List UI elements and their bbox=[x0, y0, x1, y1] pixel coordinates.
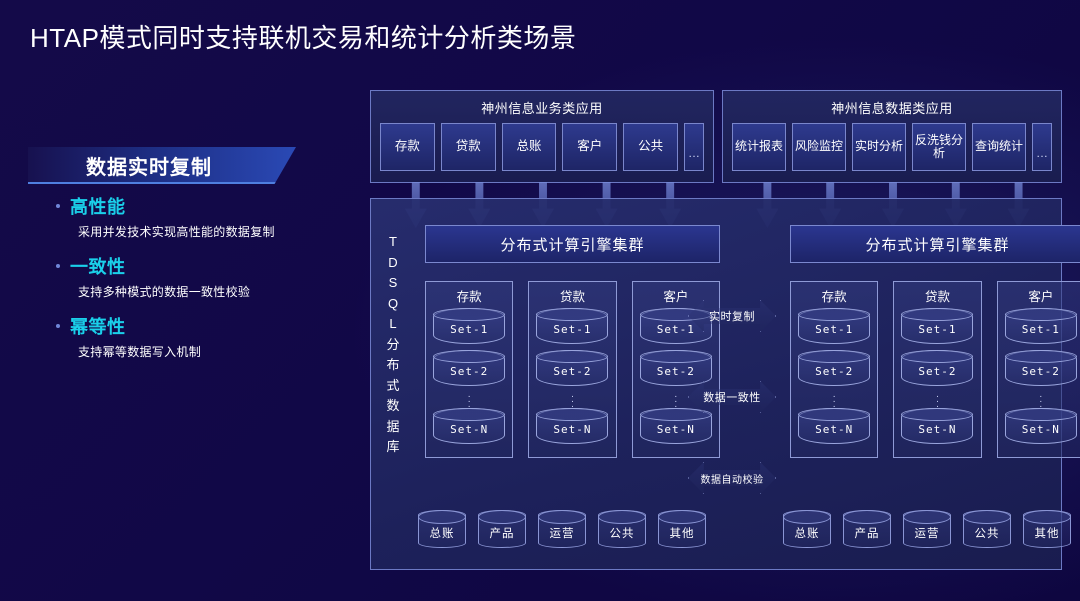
vlabel-char: 数 bbox=[380, 396, 406, 417]
set-label: Set-2 bbox=[799, 365, 869, 378]
database-icon: 公共 bbox=[963, 510, 1011, 548]
app-item[interactable]: 查询统计 bbox=[972, 123, 1026, 171]
app-item-more[interactable]: … bbox=[1032, 123, 1052, 171]
bullet-title: 高性能 bbox=[70, 193, 126, 219]
set-label: Set-1 bbox=[902, 323, 972, 336]
database-icon: 其他 bbox=[1023, 510, 1071, 548]
database-label: 总账 bbox=[419, 525, 465, 541]
database-label: 产品 bbox=[479, 525, 525, 541]
database-icon: 产品 bbox=[478, 510, 526, 548]
app-item-list: 存款 贷款 总账 客户 公共 … bbox=[371, 117, 713, 171]
database-set-icon: Set-2 bbox=[1005, 350, 1077, 386]
shard-title: 贷款 bbox=[900, 286, 974, 305]
app-item[interactable]: 存款 bbox=[380, 123, 435, 171]
app-group-data: 神州信息数据类应用 统计报表 风险监控 实时分析 反洗钱分析 查询统计 … bbox=[722, 90, 1062, 183]
database-label: 运营 bbox=[904, 525, 950, 541]
set-label: Set-2 bbox=[1006, 365, 1076, 378]
database-label: 产品 bbox=[844, 525, 890, 541]
bullet-description: 支持幂等数据写入机制 bbox=[78, 343, 352, 360]
database-label: 运营 bbox=[539, 525, 585, 541]
bullet-title: 一致性 bbox=[70, 253, 126, 279]
database-icon: 产品 bbox=[843, 510, 891, 548]
vlabel-char: 布 bbox=[380, 355, 406, 376]
shard: 客户 Set-1 Set-2 ··· Set-N bbox=[997, 281, 1080, 458]
shard: 贷款 Set-1 Set-2 ··· Set-N bbox=[893, 281, 981, 458]
database-label: 其他 bbox=[1024, 525, 1070, 541]
database-icon: 运营 bbox=[538, 510, 586, 548]
database-set-icon: Set-1 bbox=[1005, 308, 1077, 344]
app-group-title: 神州信息数据类应用 bbox=[723, 91, 1061, 117]
app-item[interactable]: 公共 bbox=[623, 123, 678, 171]
database-icon: 其他 bbox=[658, 510, 706, 548]
database-icon: 运营 bbox=[903, 510, 951, 548]
cluster-header: 分布式计算引擎集群 bbox=[425, 225, 720, 263]
set-label: Set-2 bbox=[902, 365, 972, 378]
page-title: HTAP模式同时支持联机交易和统计分析类场景 bbox=[30, 18, 576, 55]
vertical-dots-icon: ··· bbox=[900, 392, 974, 408]
shard-row: 存款 Set-1 Set-2 ··· Set-N 贷款 Set-1 Set-2 … bbox=[425, 281, 720, 458]
cluster-right: 分布式计算引擎集群 存款 Set-1 Set-2 ··· Set-N 贷款 Se… bbox=[790, 225, 1080, 458]
vertical-dots-icon: ··· bbox=[432, 392, 506, 408]
shard-row: 存款 Set-1 Set-2 ··· Set-N 贷款 Set-1 Set-2 … bbox=[790, 281, 1080, 458]
vlabel-char: 据 bbox=[380, 417, 406, 438]
set-label: Set-N bbox=[537, 423, 607, 436]
slide-canvas: HTAP模式同时支持联机交易和统计分析类场景 数据实时复制 高性能 采用并发技术… bbox=[0, 0, 1080, 601]
bullet-description: 支持多种模式的数据一致性校验 bbox=[78, 283, 352, 300]
database-set-icon: Set-1 bbox=[433, 308, 505, 344]
database-icon: 总账 bbox=[418, 510, 466, 548]
database-set-icon: Set-N bbox=[1005, 408, 1077, 444]
vertical-dots-icon: ··· bbox=[535, 392, 609, 408]
shard: 存款 Set-1 Set-2 ··· Set-N bbox=[790, 281, 878, 458]
bullet-dot-icon bbox=[56, 264, 60, 268]
app-item-more[interactable]: … bbox=[684, 123, 704, 171]
database-set-icon: Set-2 bbox=[798, 350, 870, 386]
database-icon: 公共 bbox=[598, 510, 646, 548]
set-label: Set-2 bbox=[641, 365, 711, 378]
app-item-list: 统计报表 风险监控 实时分析 反洗钱分析 查询统计 … bbox=[723, 117, 1061, 171]
vertical-dots-icon: ··· bbox=[797, 392, 871, 408]
set-label: Set-2 bbox=[537, 365, 607, 378]
banner-label: 数据实时复制 bbox=[28, 147, 296, 184]
shard-title: 存款 bbox=[432, 286, 506, 305]
database-set-icon: Set-N bbox=[536, 408, 608, 444]
bidirectional-arrow: 实时复制 bbox=[688, 300, 776, 332]
database-set-icon: Set-2 bbox=[536, 350, 608, 386]
bullet-title: 幂等性 bbox=[70, 313, 126, 339]
bullet-dot-icon bbox=[56, 204, 60, 208]
app-item[interactable]: 反洗钱分析 bbox=[912, 123, 966, 171]
database-set-icon: Set-N bbox=[433, 408, 505, 444]
set-label: Set-N bbox=[641, 423, 711, 436]
set-label: Set-1 bbox=[1006, 323, 1076, 336]
app-item[interactable]: 风险监控 bbox=[792, 123, 846, 171]
app-item[interactable]: 实时分析 bbox=[852, 123, 906, 171]
vlabel-char: S bbox=[380, 273, 406, 294]
bullet-head: 一致性 bbox=[52, 252, 352, 280]
database-label: 总账 bbox=[784, 525, 830, 541]
bullet-description: 采用并发技术实现高性能的数据复制 bbox=[78, 223, 352, 240]
bidirectional-arrow: 数据一致性 bbox=[688, 381, 776, 413]
set-label: Set-2 bbox=[434, 365, 504, 378]
database-set-icon: Set-2 bbox=[901, 350, 973, 386]
bidirectional-arrow-label: 数据自动校验 bbox=[688, 462, 776, 494]
vlabel-char: Q bbox=[380, 294, 406, 315]
app-item[interactable]: 客户 bbox=[562, 123, 617, 171]
cluster-header: 分布式计算引擎集群 bbox=[790, 225, 1080, 263]
vertical-dots-icon: ··· bbox=[1004, 392, 1078, 408]
database-set-icon: Set-N bbox=[798, 408, 870, 444]
list-item: 幂等性 支持幂等数据写入机制 bbox=[52, 312, 352, 360]
app-group-title: 神州信息业务类应用 bbox=[371, 91, 713, 117]
database-set-icon: Set-N bbox=[640, 408, 712, 444]
set-label: Set-1 bbox=[537, 323, 607, 336]
section-banner: 数据实时复制 bbox=[28, 147, 296, 184]
shard-title: 贷款 bbox=[535, 286, 609, 305]
feature-bullet-list: 高性能 采用并发技术实现高性能的数据复制 一致性 支持多种模式的数据一致性校验 … bbox=[52, 192, 352, 372]
list-item: 高性能 采用并发技术实现高性能的数据复制 bbox=[52, 192, 352, 240]
database-set-icon: Set-2 bbox=[433, 350, 505, 386]
app-item[interactable]: 统计报表 bbox=[732, 123, 786, 171]
bullet-head: 高性能 bbox=[52, 192, 352, 220]
bidirectional-arrow-label: 数据一致性 bbox=[688, 381, 776, 413]
cluster-left: 分布式计算引擎集群 存款 Set-1 Set-2 ··· Set-N 贷款 Se… bbox=[425, 225, 720, 458]
vlabel-char: D bbox=[380, 253, 406, 274]
database-icon: 总账 bbox=[783, 510, 831, 548]
bottom-db-row-left: 总账 产品 运营 公共 其他 bbox=[418, 510, 718, 548]
vlabel-char: 分 bbox=[380, 335, 406, 356]
database-label: 公共 bbox=[964, 525, 1010, 541]
shard-title: 客户 bbox=[1004, 286, 1078, 305]
bidirectional-arrow: 数据自动校验 bbox=[688, 462, 776, 494]
bullet-dot-icon bbox=[56, 324, 60, 328]
app-item[interactable]: 总账 bbox=[502, 123, 557, 171]
database-set-icon: Set-N bbox=[901, 408, 973, 444]
bidirectional-arrow-label: 实时复制 bbox=[688, 300, 776, 332]
tdsql-vertical-label: T D S Q L 分 布 式 数 据 库 bbox=[380, 232, 406, 458]
set-label: Set-1 bbox=[799, 323, 869, 336]
app-group-business: 神州信息业务类应用 存款 贷款 总账 客户 公共 … bbox=[370, 90, 714, 183]
vlabel-char: T bbox=[380, 232, 406, 253]
database-label: 公共 bbox=[599, 525, 645, 541]
set-label: Set-N bbox=[434, 423, 504, 436]
shard-title: 存款 bbox=[797, 286, 871, 305]
shard: 贷款 Set-1 Set-2 ··· Set-N bbox=[528, 281, 616, 458]
set-label: Set-1 bbox=[434, 323, 504, 336]
database-set-icon: Set-1 bbox=[901, 308, 973, 344]
database-set-icon: Set-1 bbox=[536, 308, 608, 344]
list-item: 一致性 支持多种模式的数据一致性校验 bbox=[52, 252, 352, 300]
set-label: Set-N bbox=[902, 423, 972, 436]
set-label: Set-N bbox=[1006, 423, 1076, 436]
vlabel-char: 库 bbox=[380, 437, 406, 458]
bullet-head: 幂等性 bbox=[52, 312, 352, 340]
vlabel-char: L bbox=[380, 314, 406, 335]
app-item[interactable]: 贷款 bbox=[441, 123, 496, 171]
database-set-icon: Set-1 bbox=[798, 308, 870, 344]
database-label: 其他 bbox=[659, 525, 705, 541]
bottom-db-row-right: 总账 产品 运营 公共 其他 bbox=[783, 510, 1080, 548]
shard: 存款 Set-1 Set-2 ··· Set-N bbox=[425, 281, 513, 458]
set-label: Set-N bbox=[799, 423, 869, 436]
vlabel-char: 式 bbox=[380, 376, 406, 397]
